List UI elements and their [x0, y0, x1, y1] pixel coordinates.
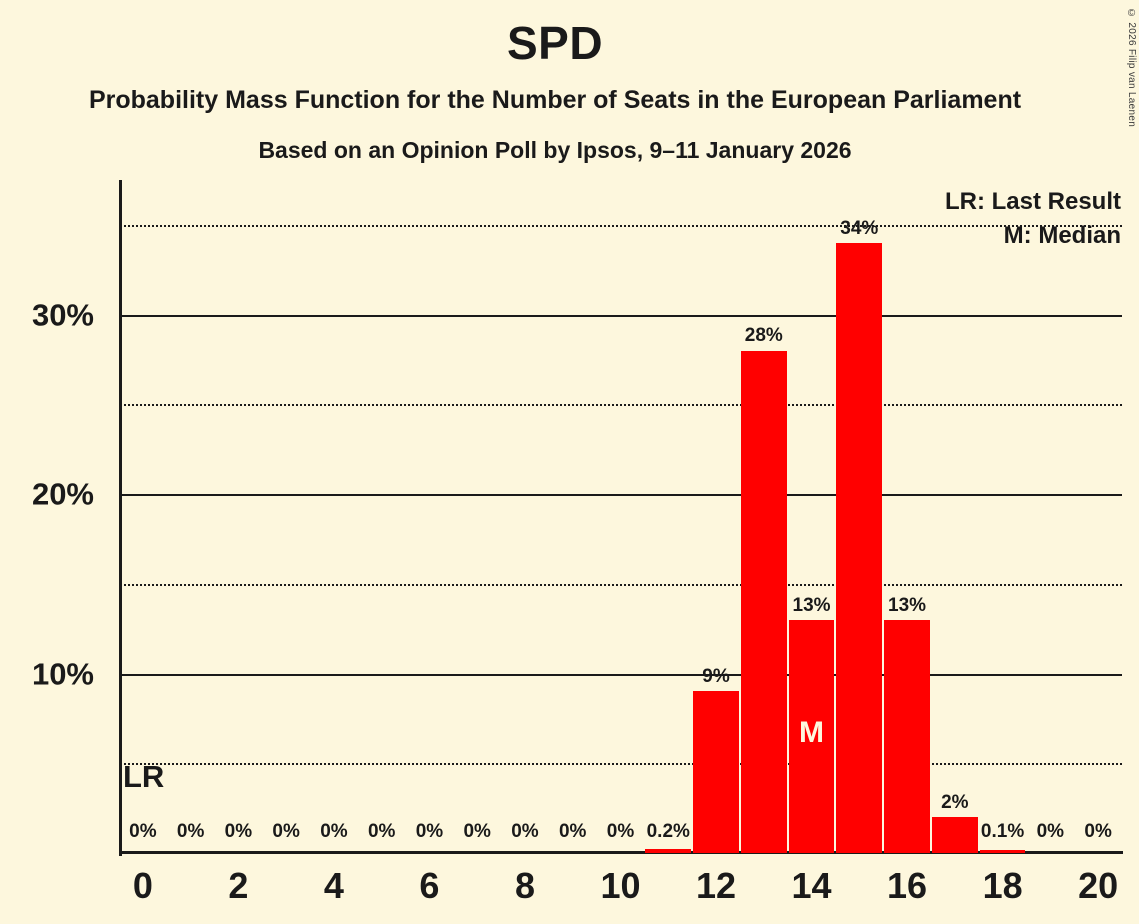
x-axis-tick-label: 6	[419, 868, 439, 904]
bar	[645, 849, 691, 853]
y-axis-tick-label: 10%	[0, 658, 94, 689]
bar	[836, 243, 882, 853]
median-marker: M	[789, 718, 835, 748]
bar	[980, 850, 1026, 853]
x-axis-tick-label: 12	[696, 868, 736, 904]
gridline-minor	[119, 225, 1122, 227]
gridline-minor	[119, 404, 1122, 406]
x-axis-tick-label: 18	[983, 868, 1023, 904]
gridline-minor	[119, 763, 1122, 765]
bar	[693, 691, 739, 853]
bar	[884, 620, 930, 853]
x-axis-tick-label: 20	[1078, 868, 1118, 904]
bar-value-label: 0.2%	[639, 822, 697, 841]
chart-title: SPD	[0, 20, 1110, 66]
x-axis-tick-label: 2	[228, 868, 248, 904]
x-axis-tick-label: 0	[133, 868, 153, 904]
copyright-notice: © 2026 Filip van Laenen	[1126, 8, 1137, 127]
last-result-marker: LR	[123, 761, 164, 792]
x-axis-tick-label: 4	[324, 868, 344, 904]
y-axis-tick-label: 30%	[0, 299, 94, 330]
bar	[932, 817, 978, 853]
bar-value-label: 13%	[789, 596, 835, 615]
x-axis-tick-label: 16	[887, 868, 927, 904]
bar-value-label: 34%	[836, 219, 882, 238]
gridline-minor	[119, 584, 1122, 586]
bar-value-label: 0%	[1069, 822, 1127, 841]
x-axis-tick-label: 8	[515, 868, 535, 904]
gridline-major	[119, 674, 1122, 676]
x-axis-tick-label: 14	[792, 868, 832, 904]
chart-subtitle-source: Based on an Opinion Poll by Ipsos, 9–11 …	[0, 139, 1110, 162]
bar	[741, 351, 787, 854]
bar-value-label: 13%	[884, 596, 930, 615]
y-axis-tick-label: 20%	[0, 479, 94, 510]
chart-subtitle: Probability Mass Function for the Number…	[0, 88, 1110, 113]
bar-value-label: 2%	[932, 793, 978, 812]
gridline-major	[119, 315, 1122, 317]
x-axis-tick-label: 10	[600, 868, 640, 904]
bar-value-label: 28%	[741, 326, 787, 345]
chart-canvas: SPD Probability Mass Function for the Nu…	[0, 0, 1139, 924]
plot-area: 10%20%30%LR0%0%0%0%0%0%0%0%0%0%0%0.2%9%2…	[119, 180, 1122, 853]
gridline-major	[119, 494, 1122, 496]
bar-value-label: 9%	[693, 667, 739, 686]
